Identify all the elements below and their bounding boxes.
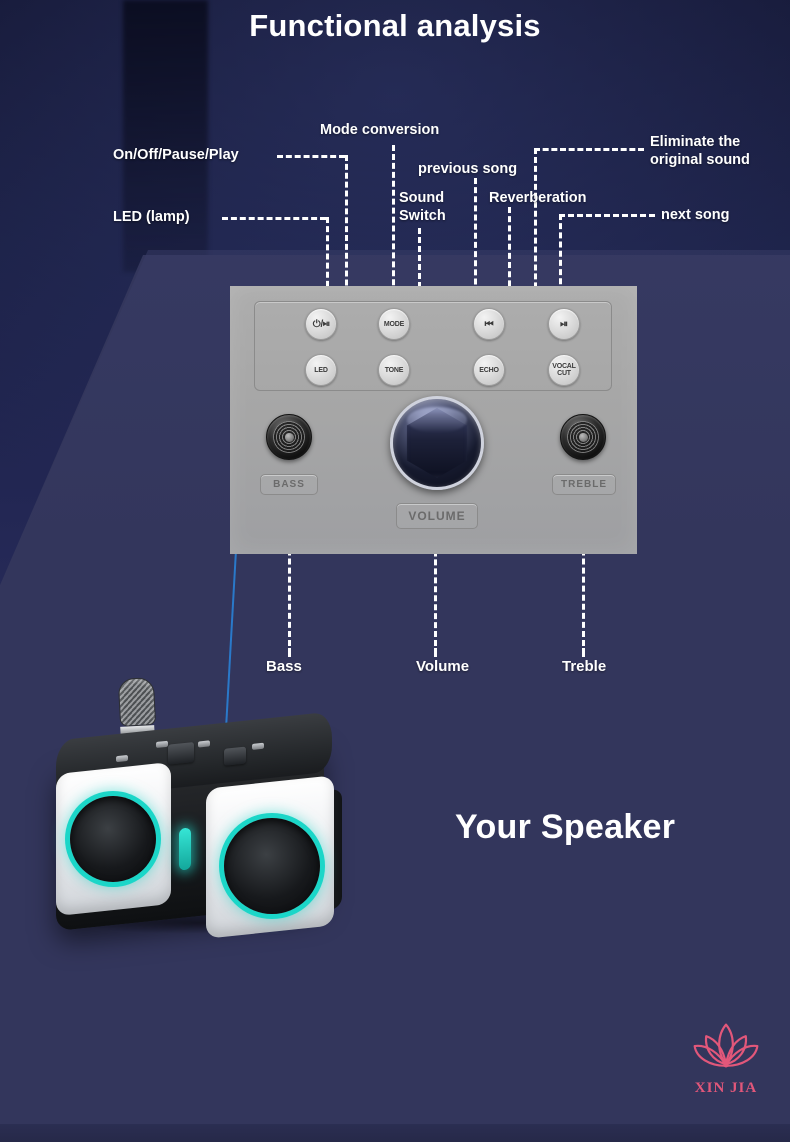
led-button[interactable]: LED [305,354,337,386]
connector-vocalcut-h [534,148,644,151]
speaker-driver-left [70,796,156,882]
connector-next-h [559,214,655,217]
speaker-top-button-4 [116,755,128,762]
lotus-flower-icon [678,1018,774,1084]
volume-knob-gloss [407,407,467,433]
echo-icon: ECHO [479,367,498,374]
vocal-cut-icon: VOCAL CUT [552,363,576,377]
callout-eliminate-original-sound: Eliminate the original sound [650,133,750,169]
control-panel: ⏻/⏯ MODE ⏮ ⏯ LED TONE ECHO VOCAL CUT BAS… [230,286,637,554]
bottom-strip [0,1124,790,1142]
previous-track-button[interactable]: ⏮ [473,308,505,340]
bass-knob[interactable] [266,414,312,460]
callout-mode: Mode conversion [320,121,439,139]
treble-knob[interactable] [560,414,606,460]
bass-knob-hub [285,433,294,442]
treble-knob-hub [579,433,588,442]
bass-knob-cap: BASS [260,474,318,495]
echo-button[interactable]: ECHO [473,354,505,386]
callout-reverberation: Reverberation [489,189,587,207]
tone-button[interactable]: TONE [378,354,410,386]
next-track-icon: ⏯ [560,321,568,328]
volume-knob-cap: VOLUME [396,503,478,529]
connector-volume-tick [434,648,437,657]
treble-knob-cap: TREBLE [552,474,616,495]
speaker-top-button-1 [156,741,168,748]
volume-knob[interactable] [390,396,484,490]
callout-sound-switch: Sound Switch [399,189,446,225]
lotus-center [724,1063,729,1068]
microphone-head-icon [118,677,156,727]
callout-previous-song: previous song [418,160,517,178]
power-button[interactable]: ⏻/⏯ [305,308,337,340]
connector-treble-tick [582,648,585,657]
tone-icon: TONE [385,367,404,374]
brand-name: XIN JIA [678,1080,774,1097]
callout-led: LED (lamp) [113,208,190,226]
led-icon: LED [314,367,327,374]
callout-next-song: next song [661,206,729,224]
speaker-top-button-2 [198,740,210,747]
speaker-top-button-3 [252,743,264,750]
callout-power: On/Off/Pause/Play [113,146,239,164]
speaker-led-strip [179,827,191,870]
callout-treble: Treble [562,658,606,675]
speaker-product-image [48,700,348,940]
page-title: Functional analysis [0,8,790,44]
infographic-canvas: Functional analysis On/Off/Pause/Play LE… [0,0,790,1142]
power-play-icon: ⏻/⏯ [313,321,330,328]
callout-bass: Bass [266,658,302,675]
vocal-cut-button[interactable]: VOCAL CUT [548,354,580,386]
next-track-button[interactable]: ⏯ [548,308,580,340]
speaker-driver-right [224,818,320,914]
mode-icon: MODE [384,321,404,328]
callout-volume: Volume [416,658,469,675]
mode-button[interactable]: MODE [378,308,410,340]
connector-bass-tick [288,648,291,657]
brand-logo: XIN JIA [678,1018,774,1114]
connector-power-h [277,155,345,158]
product-caption: Your Speaker [455,808,675,847]
speaker-top-knob-2 [224,747,246,766]
speaker-top-knob-1 [168,742,194,765]
previous-track-icon: ⏮ [485,321,494,328]
connector-led-h [222,217,326,220]
